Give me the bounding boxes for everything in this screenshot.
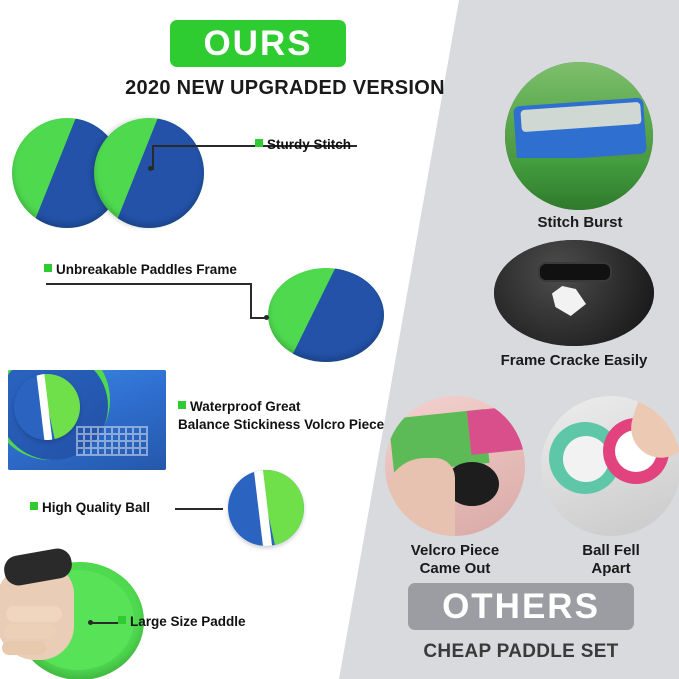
velcro-texture bbox=[76, 426, 148, 456]
paddle-strap bbox=[538, 262, 612, 282]
ball-on-paddle bbox=[14, 374, 80, 440]
callout-label-unbreakable-frame: Unbreakable Paddles Frame bbox=[56, 262, 237, 277]
thumb bbox=[385, 458, 455, 536]
frame-crack-photo bbox=[494, 240, 654, 346]
callout-label-sturdy-stitch: Sturdy Stitch bbox=[267, 137, 351, 152]
ball-fell-apart-photo bbox=[541, 396, 679, 536]
bullet-square-icon bbox=[118, 616, 126, 624]
callout-unbreakable-frame: Unbreakable Paddles Frame bbox=[44, 262, 237, 279]
leader-line-frame-v bbox=[250, 283, 252, 318]
others-subtitle: CHEAP PADDLE SET bbox=[388, 641, 654, 663]
ours-subtitle: 2020 NEW UPGRADED VERSION bbox=[105, 77, 465, 100]
ball-high-quality bbox=[228, 470, 304, 546]
leader-line-sturdy-stitch-v bbox=[152, 146, 154, 169]
leader-dot-frame bbox=[264, 315, 269, 320]
bullet-square-icon bbox=[178, 401, 186, 409]
paddle-middle bbox=[268, 268, 384, 362]
leader-line-frame-h bbox=[46, 283, 251, 285]
callout-label-large-size-paddle: Large Size Paddle bbox=[130, 614, 246, 629]
finger-1 bbox=[6, 606, 62, 622]
bullet-square-icon bbox=[255, 139, 263, 147]
stitch-burst-photo bbox=[505, 62, 653, 210]
caption-ball-fell-apart: Ball Fell Apart bbox=[541, 542, 679, 578]
comparison-infographic: OURS 2020 NEW UPGRADED VERSION Sturdy St… bbox=[0, 0, 679, 679]
caption-velcro-came-out: Velcro Piece Came Out bbox=[385, 542, 525, 578]
ball-inner-white bbox=[563, 436, 609, 482]
bullet-square-icon bbox=[44, 264, 52, 272]
leader-line-large-paddle bbox=[92, 622, 118, 624]
callout-label-high-quality-ball: High Quality Ball bbox=[42, 500, 150, 515]
paddle-lower-edge bbox=[511, 158, 651, 210]
bullet-square-icon bbox=[30, 502, 38, 510]
paddle-rim bbox=[268, 268, 384, 362]
callout-high-quality-ball: High Quality Ball bbox=[30, 500, 150, 517]
finger-3 bbox=[2, 641, 46, 655]
callout-sturdy-stitch: Sturdy Stitch bbox=[255, 137, 351, 154]
others-banner: OTHERS bbox=[408, 583, 634, 630]
caption-stitch-burst: Stitch Burst bbox=[520, 214, 640, 232]
leader-dot-large-paddle bbox=[88, 620, 93, 625]
ours-banner: OURS bbox=[170, 20, 346, 67]
caption-velcro-line2: Came Out bbox=[420, 560, 491, 577]
leader-dot-sturdy-stitch bbox=[148, 166, 153, 171]
finger-2 bbox=[4, 624, 56, 639]
velcro-came-out-photo bbox=[385, 396, 525, 536]
ours-banner-label: OURS bbox=[203, 24, 312, 64]
leader-line-ball bbox=[175, 508, 223, 510]
caption-ball-line2: Apart bbox=[591, 560, 630, 577]
others-banner-label: OTHERS bbox=[442, 587, 600, 627]
paddle-top-right bbox=[94, 118, 204, 228]
callout-large-size-paddle: Large Size Paddle bbox=[118, 614, 246, 631]
callout-label-waterproof-line1: Waterproof Great bbox=[190, 399, 301, 414]
callout-label-waterproof-line2: Balance Stickiness Volcro Piece bbox=[178, 417, 384, 432]
caption-velcro-line1: Velcro Piece bbox=[411, 542, 499, 559]
pink-paddle-edge bbox=[467, 405, 525, 455]
paddle-rim bbox=[94, 118, 204, 228]
callout-waterproof-velcro: Waterproof Great Balance Stickiness Volc… bbox=[178, 398, 384, 434]
caption-ball-line1: Ball Fell bbox=[582, 542, 640, 559]
caption-frame-cracke-easily: Frame Cracke Easily bbox=[466, 352, 679, 370]
